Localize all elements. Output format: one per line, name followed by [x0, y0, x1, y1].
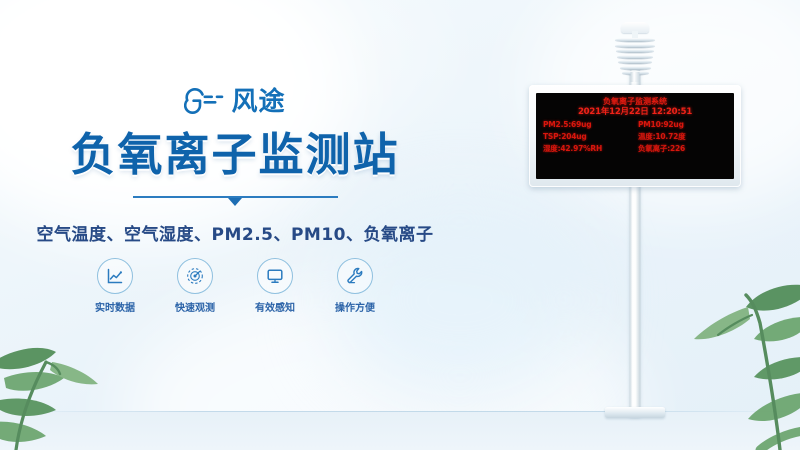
- page-title: 负氧离子监测站: [0, 128, 470, 181]
- page-subtitle: 空气温度、空气湿度、PM2.5、PM10、负氧离子: [0, 220, 470, 245]
- feature-item-effective-sensing: 有效感知: [247, 258, 303, 314]
- led-reading-temperature: 温度:10.72度: [638, 132, 729, 143]
- feature-item-realtime-data: 实时数据: [87, 258, 143, 314]
- feature-label: 有效感知: [255, 299, 295, 314]
- divider-triangle-icon: [228, 198, 242, 206]
- monitor-screen-icon: [257, 258, 293, 294]
- brand-logo: 风途: [0, 88, 470, 115]
- sensor-foot: [631, 72, 640, 82]
- led-reading-pm25: PM2.5:69ug: [543, 120, 634, 131]
- station-base-flange: [605, 407, 665, 418]
- feature-list: 实时数据 快速观测: [0, 258, 470, 314]
- line-chart-icon: [97, 258, 133, 294]
- wrench-icon: [337, 258, 373, 294]
- led-screen: 负氧离子监测系统 2021年12月22日 12:20:51 PM2.5:69ug…: [536, 93, 734, 179]
- monitoring-station: 负氧离子监测系统 2021年12月22日 12:20:51 PM2.5:69ug…: [470, 0, 800, 450]
- led-screen-datetime: 2021年12月22日 12:20:51: [541, 107, 729, 118]
- radar-signal-icon: [177, 258, 213, 294]
- sensor-louver-plates: [615, 38, 655, 77]
- promo-banner: 风途 负氧离子监测站 空气温度、空气湿度、PM2.5、PM10、负氧离子 实时数…: [0, 0, 800, 450]
- feature-item-fast-observation: 快速观测: [167, 258, 223, 314]
- led-reading-tsp: TSP:204ug: [543, 132, 634, 143]
- fengtu-cloud-logo-icon: [184, 88, 224, 115]
- led-reading-pm10: PM10:92ug: [638, 120, 729, 131]
- feature-label: 快速观测: [175, 299, 215, 314]
- radiation-shield-sensor-icon: [611, 22, 659, 80]
- led-reading-humidity: 湿度:42.97%RH: [543, 144, 634, 155]
- title-divider: [0, 196, 470, 206]
- feature-label: 操作方便: [335, 299, 375, 314]
- led-screen-title: 负氧离子监测系统: [541, 97, 729, 107]
- feature-label: 实时数据: [95, 299, 135, 314]
- brand-name: 风途: [231, 89, 285, 115]
- hero-text-block: 风途 负氧离子监测站 空气温度、空气湿度、PM2.5、PM10、负氧离子 实时数…: [0, 0, 470, 450]
- led-display-panel: 负氧离子监测系统 2021年12月22日 12:20:51 PM2.5:69ug…: [529, 85, 741, 187]
- led-readings-grid: PM2.5:69ug PM10:92ug TSP:204ug 温度:10.72度…: [541, 120, 729, 155]
- feature-item-easy-operation: 操作方便: [327, 258, 383, 314]
- led-reading-negative-ion: 负氧离子:226: [638, 144, 729, 155]
